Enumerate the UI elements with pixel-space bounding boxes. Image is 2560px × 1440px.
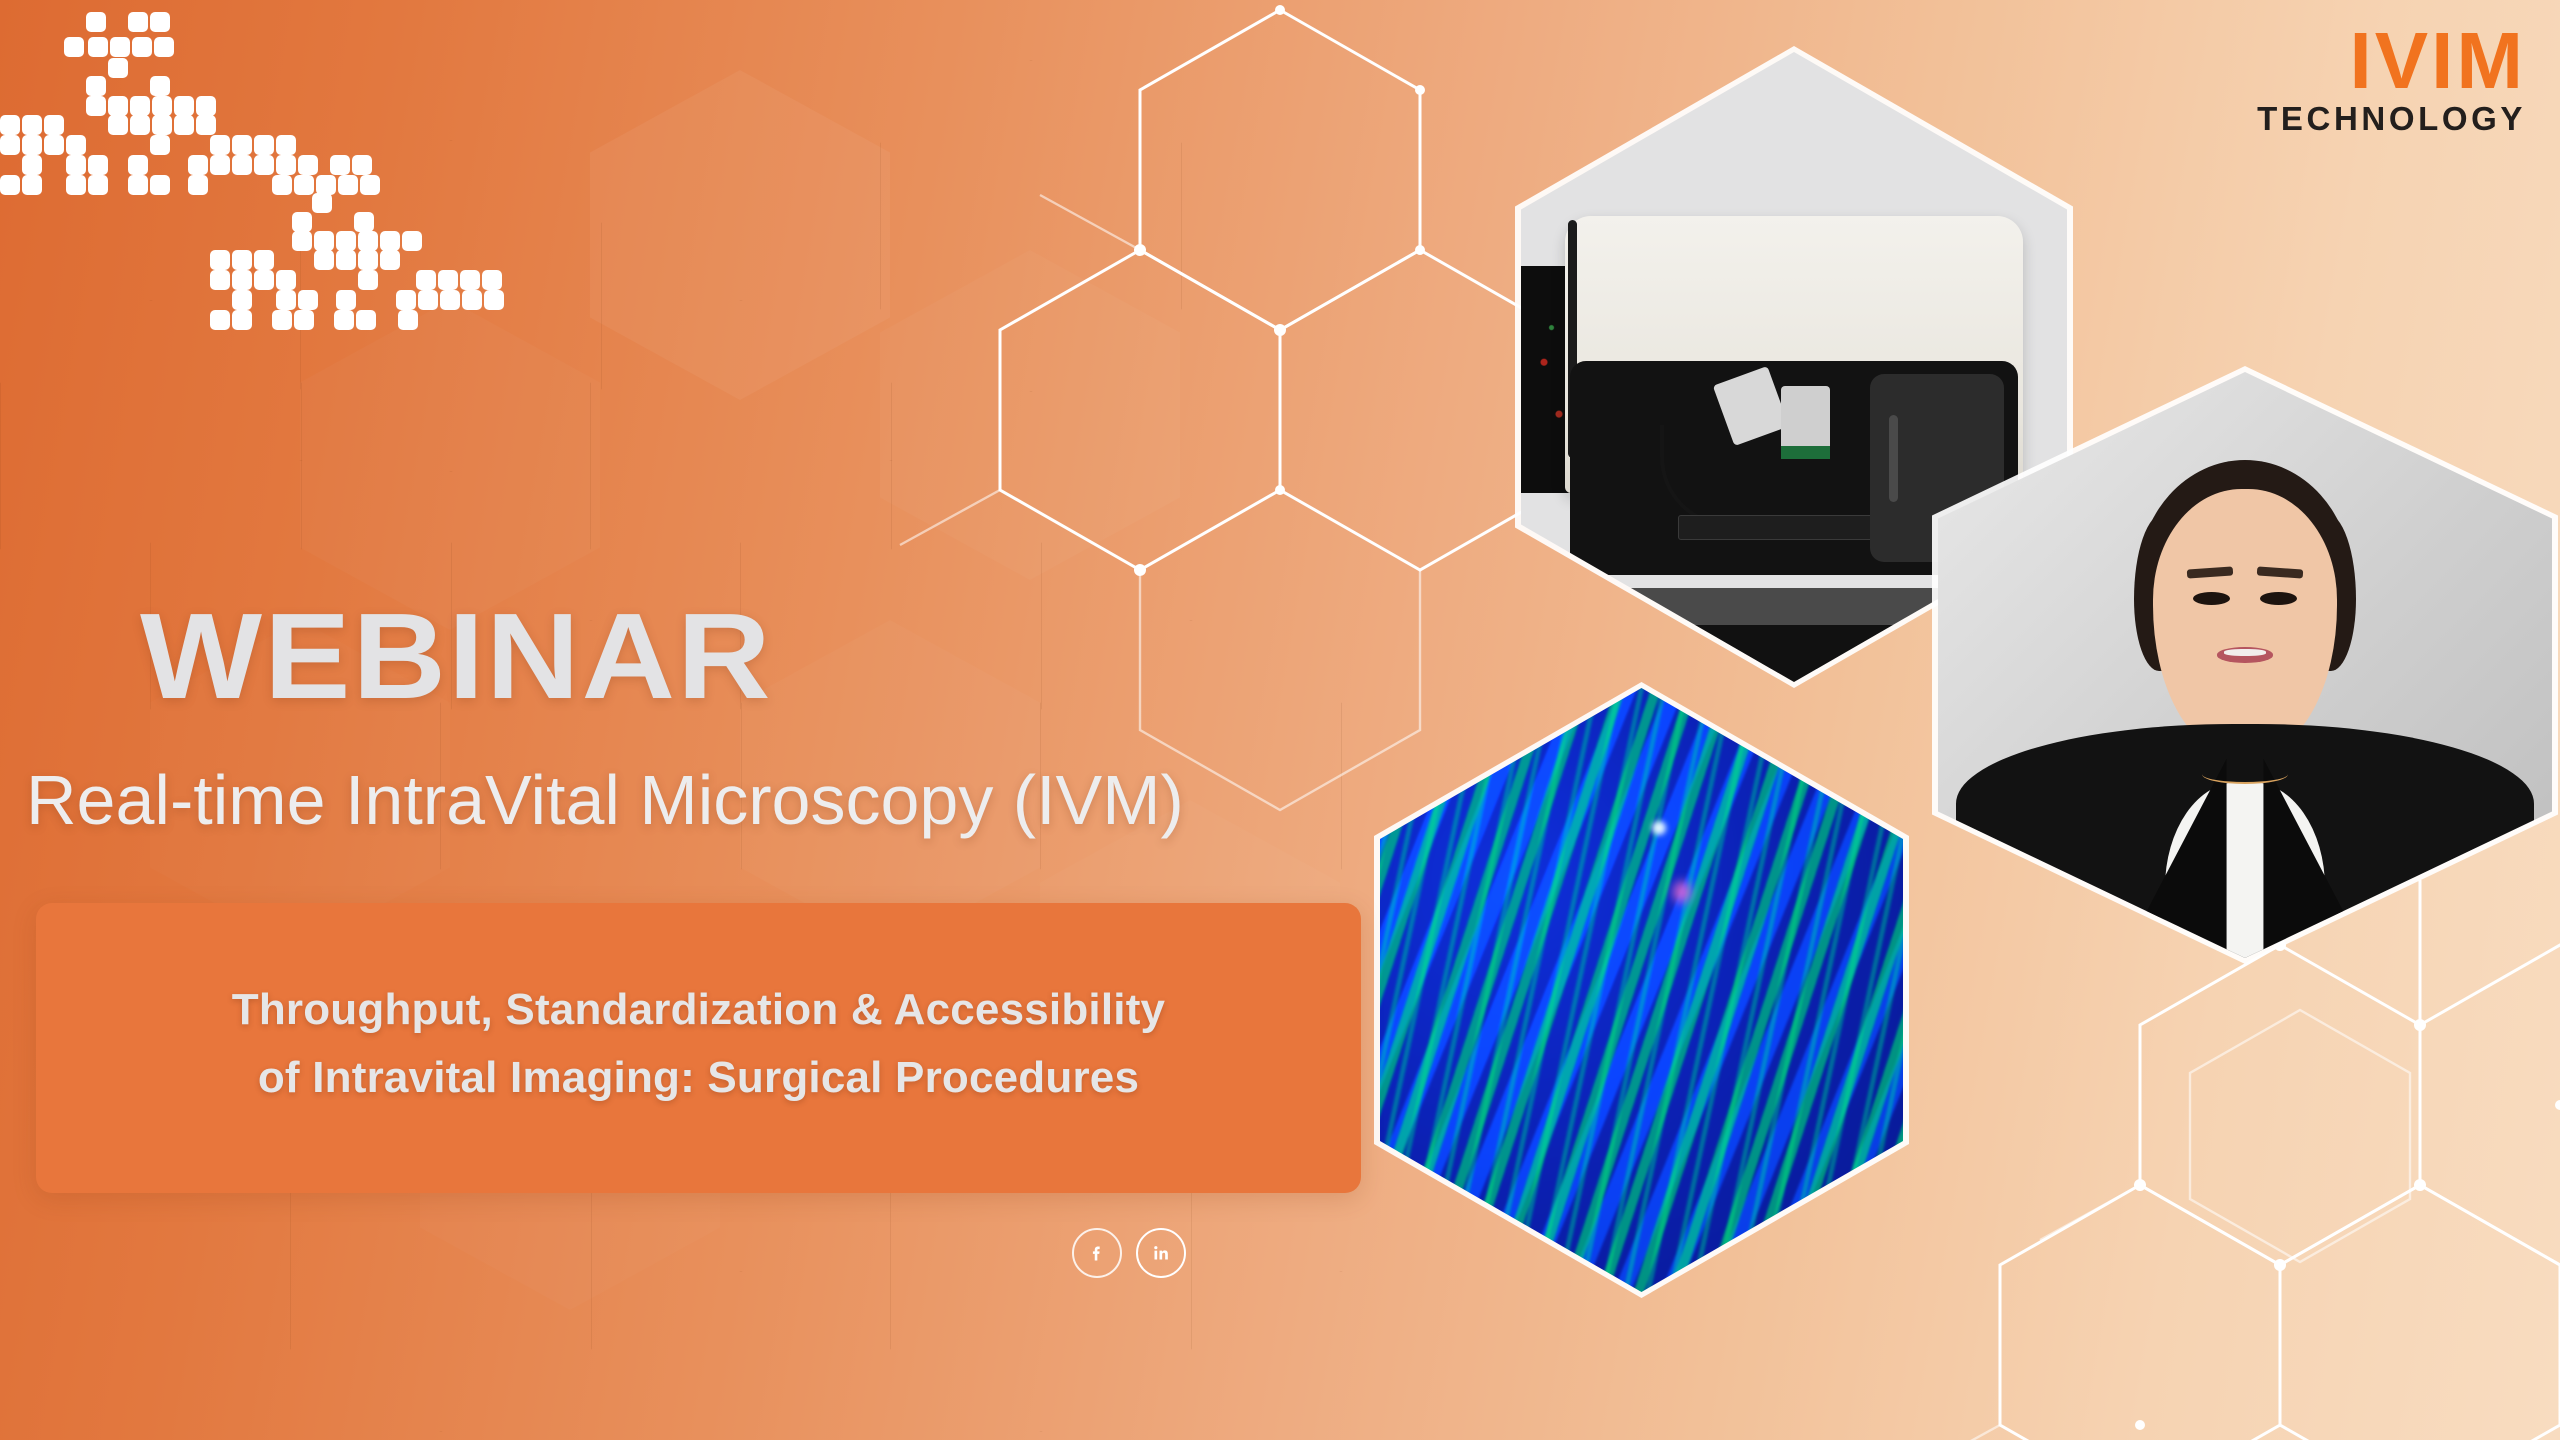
pixel-pattern-decor [0,0,560,330]
topic-banner-line-1: Throughput, Standardization & Accessibil… [36,985,1361,1035]
logo-tagline: TECHNOLOGY [2257,100,2526,138]
objective-ring [1781,446,1830,459]
linkedin-icon[interactable] [1136,1228,1186,1278]
webinar-promo-banner: IVIM TECHNOLOGY IVIM TECHNOLOGY [0,0,2560,1440]
face [2153,489,2337,753]
page-title: WEBINAR [140,595,773,717]
instrument-cable [1660,425,1780,528]
ivim-logo: IVIM TECHNOLOGY [2257,24,2526,138]
topic-banner: Throughput, Standardization & Accessibil… [36,903,1361,1193]
page-subtitle: Real-time IntraVital Microscopy (IVM) [26,765,1184,835]
eye-right [2260,592,2297,605]
eye-left [2193,592,2230,605]
facebook-icon[interactable] [1072,1228,1122,1278]
topic-banner-line-2: of Intravital Imaging: Surgical Procedur… [36,1053,1361,1103]
teeth [2224,649,2267,656]
social-links [1072,1228,1186,1278]
magenta-cell-marker [1673,881,1691,903]
logo-wordmark: IVIM [2257,24,2526,98]
honeycomb-speaker-overlay [2190,1010,2410,1262]
bright-cell-marker [1652,821,1666,835]
